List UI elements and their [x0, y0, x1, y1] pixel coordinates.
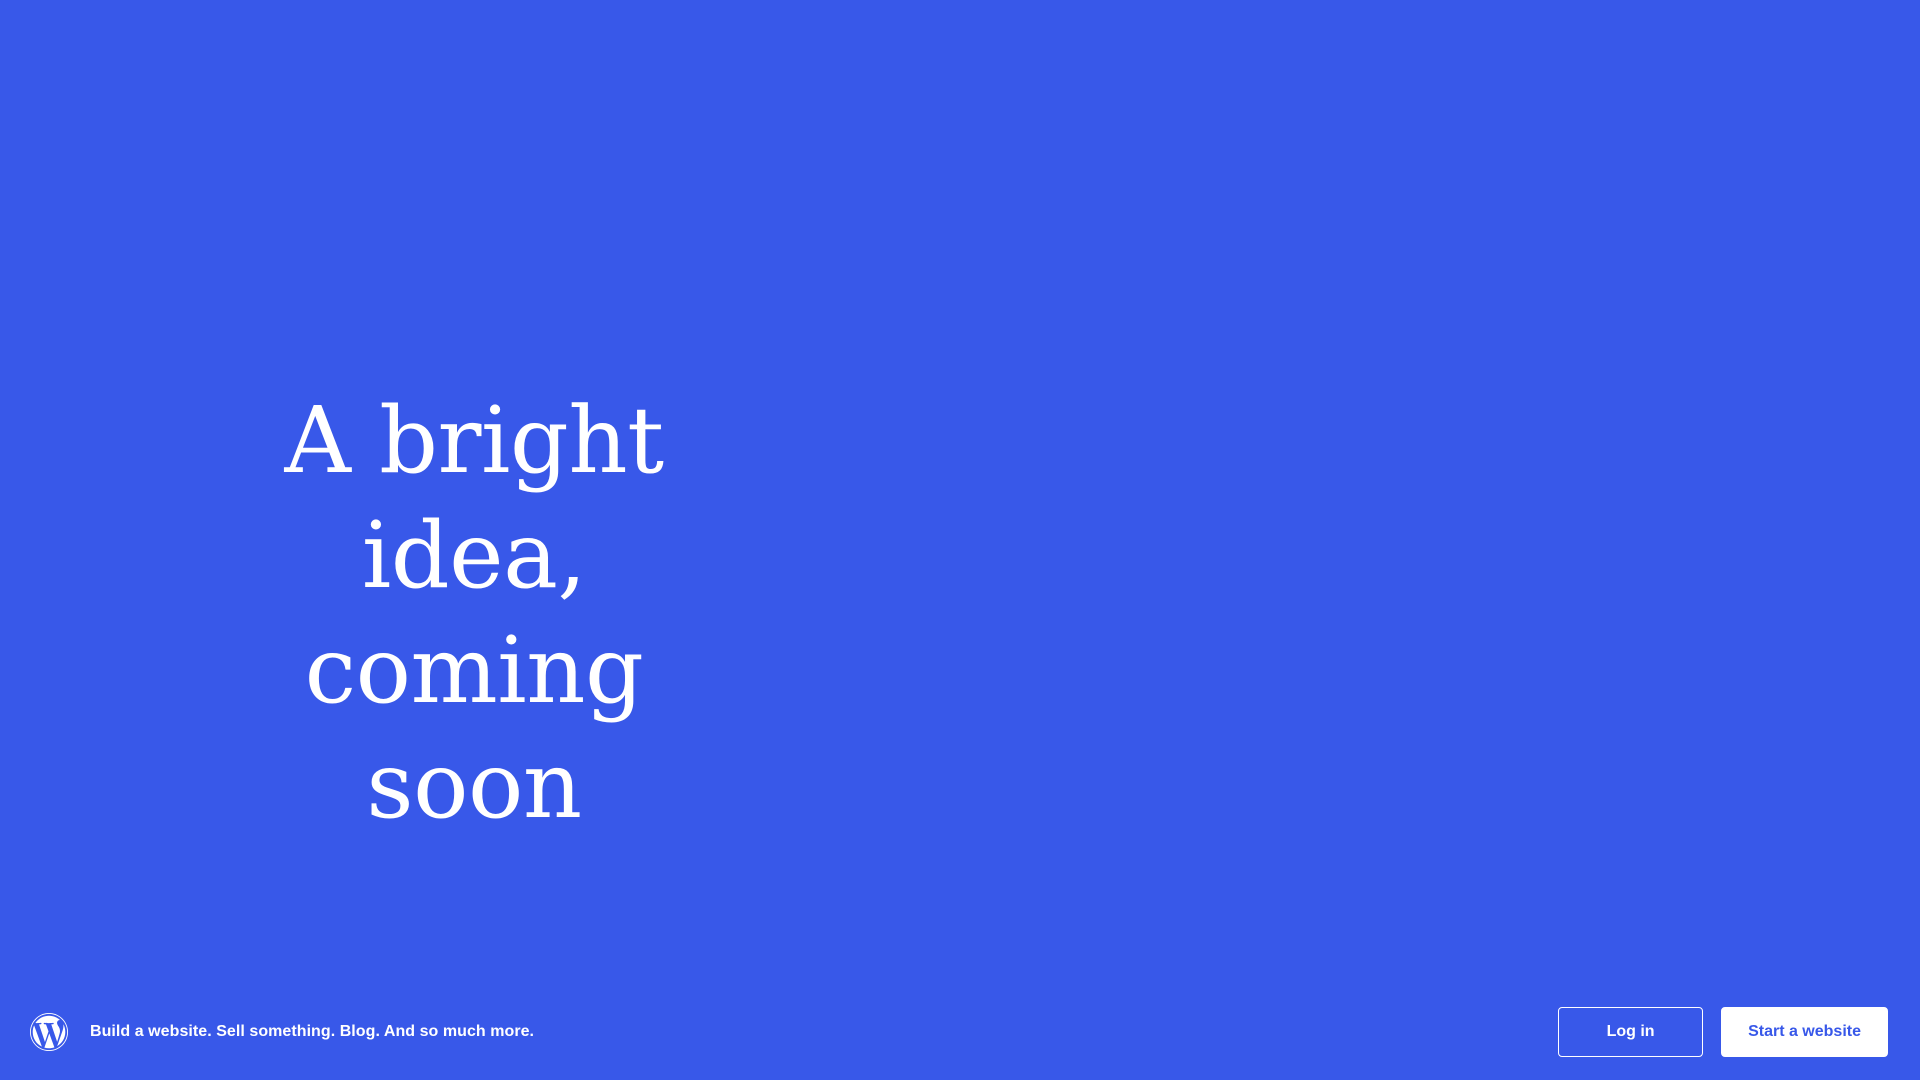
hero-section: A bright idea, coming soon [0, 0, 1920, 984]
footer-bar: Build a website. Sell something. Blog. A… [0, 984, 1920, 1080]
login-button[interactable]: Log in [1558, 1007, 1703, 1057]
footer-branding: Build a website. Sell something. Blog. A… [30, 1013, 534, 1051]
coming-soon-page: A bright idea, coming soon Build a websi… [0, 0, 1920, 1080]
wordpress-logo-wrapper[interactable] [30, 1013, 68, 1051]
footer-tagline: Build a website. Sell something. Blog. A… [90, 1023, 534, 1041]
wordpress-logo-icon [30, 1013, 68, 1051]
start-a-website-button[interactable]: Start a website [1721, 1007, 1888, 1057]
footer-actions: Log in Start a website [1558, 1007, 1888, 1057]
page-title: A bright idea, coming soon [188, 383, 760, 843]
hero-content: A bright idea, coming soon [188, 383, 760, 843]
